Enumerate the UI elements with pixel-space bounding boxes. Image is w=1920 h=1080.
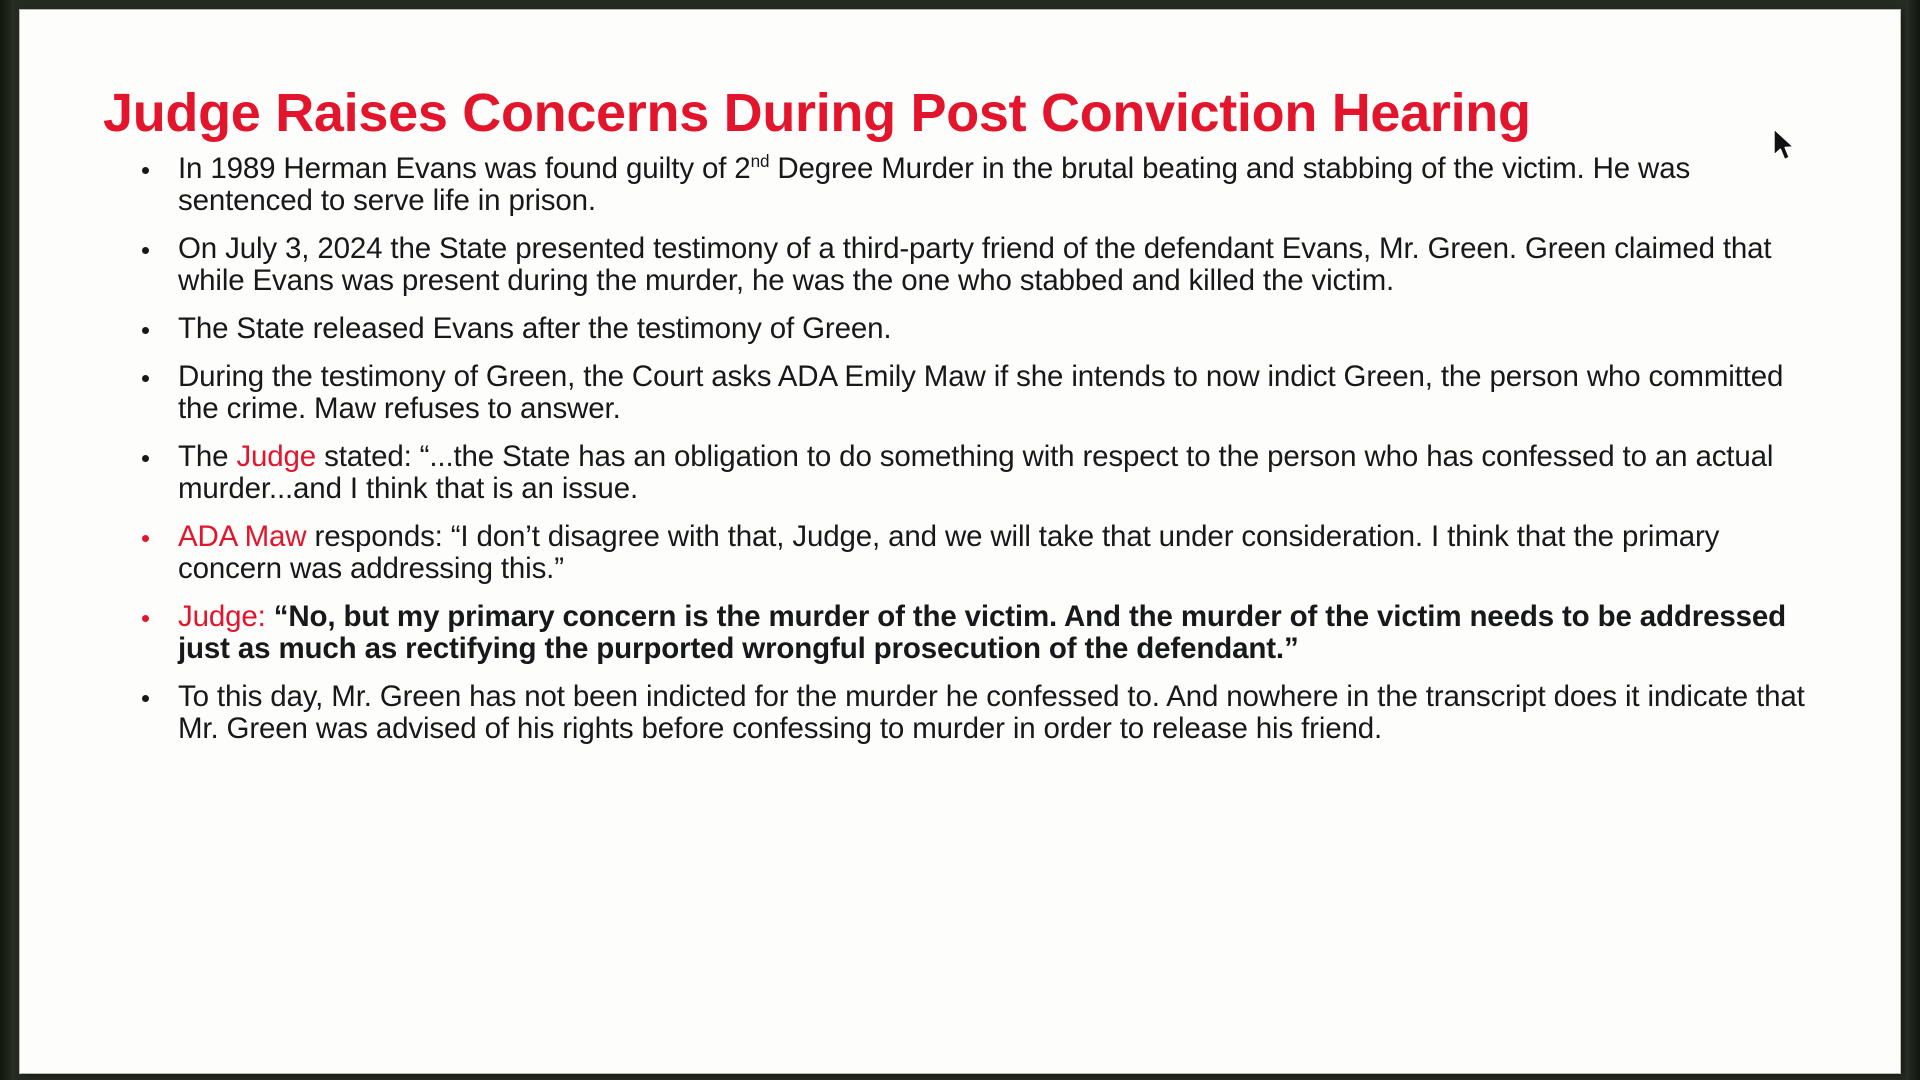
bullet-text-segment: responds: “I don’t disagree with that, J… (178, 520, 1719, 585)
bullet-text-segment: To this day, Mr. Green has not been indi… (178, 680, 1805, 745)
bullet-text-segment: During the testimony of Green, the Court… (178, 360, 1783, 425)
bullet-conviction-1989: In 1989 Herman Evans was found guilty of… (128, 153, 1828, 217)
bullet-judge-primary-concern: Judge: “No, but my primary concern is th… (128, 601, 1828, 665)
bullet-text-segment: Judge (178, 600, 258, 633)
bullet-green-not-indicted: To this day, Mr. Green has not been indi… (128, 681, 1828, 745)
bullet-ada-maw-responds: ADA Maw responds: “I don’t disagree with… (128, 521, 1828, 585)
bullet-dot-icon (142, 375, 149, 382)
bullet-court-asks-maw: During the testimony of Green, the Court… (128, 361, 1828, 425)
bullet-text-segment: : (258, 600, 274, 633)
bullet-dot-icon (142, 327, 149, 334)
slide-canvas: Judge Raises Concerns During Post Convic… (20, 10, 1900, 1073)
bullet-text-segment: In 1989 Herman Evans was found guilty of… (178, 152, 751, 185)
bullet-dot-icon (142, 615, 149, 622)
bullet-judge-stated: The Judge stated: “...the State has an o… (128, 441, 1828, 505)
bullet-text-segment: Judge (236, 440, 316, 473)
bullet-green-testimony: On July 3, 2024 the State presented test… (128, 233, 1828, 297)
bullet-text-segment: nd (751, 152, 770, 171)
presentation-viewer: Judge Raises Concerns During Post Convic… (0, 0, 1920, 1080)
bullet-dot-icon (142, 455, 149, 462)
bullet-text-segment: The (178, 440, 236, 473)
bullet-dot-icon (142, 535, 149, 542)
bullet-evans-released: The State released Evans after the testi… (128, 313, 1828, 345)
page-title: Judge Raises Concerns During Post Convic… (103, 84, 1803, 143)
bullet-dot-icon (142, 167, 149, 174)
slide-bullet-list: In 1989 Herman Evans was found guilty of… (128, 153, 1828, 761)
bullet-text-segment: ADA Maw (178, 520, 306, 553)
bullet-text-segment: The State released Evans after the testi… (178, 312, 891, 345)
bullet-text-segment: stated: “...the State has an obligation … (178, 440, 1773, 505)
bullet-text-segment: “No, but my primary concern is the murde… (178, 600, 1786, 665)
bullet-text-segment: On July 3, 2024 the State presented test… (178, 232, 1771, 297)
bullet-dot-icon (142, 695, 149, 702)
bullet-dot-icon (142, 247, 149, 254)
